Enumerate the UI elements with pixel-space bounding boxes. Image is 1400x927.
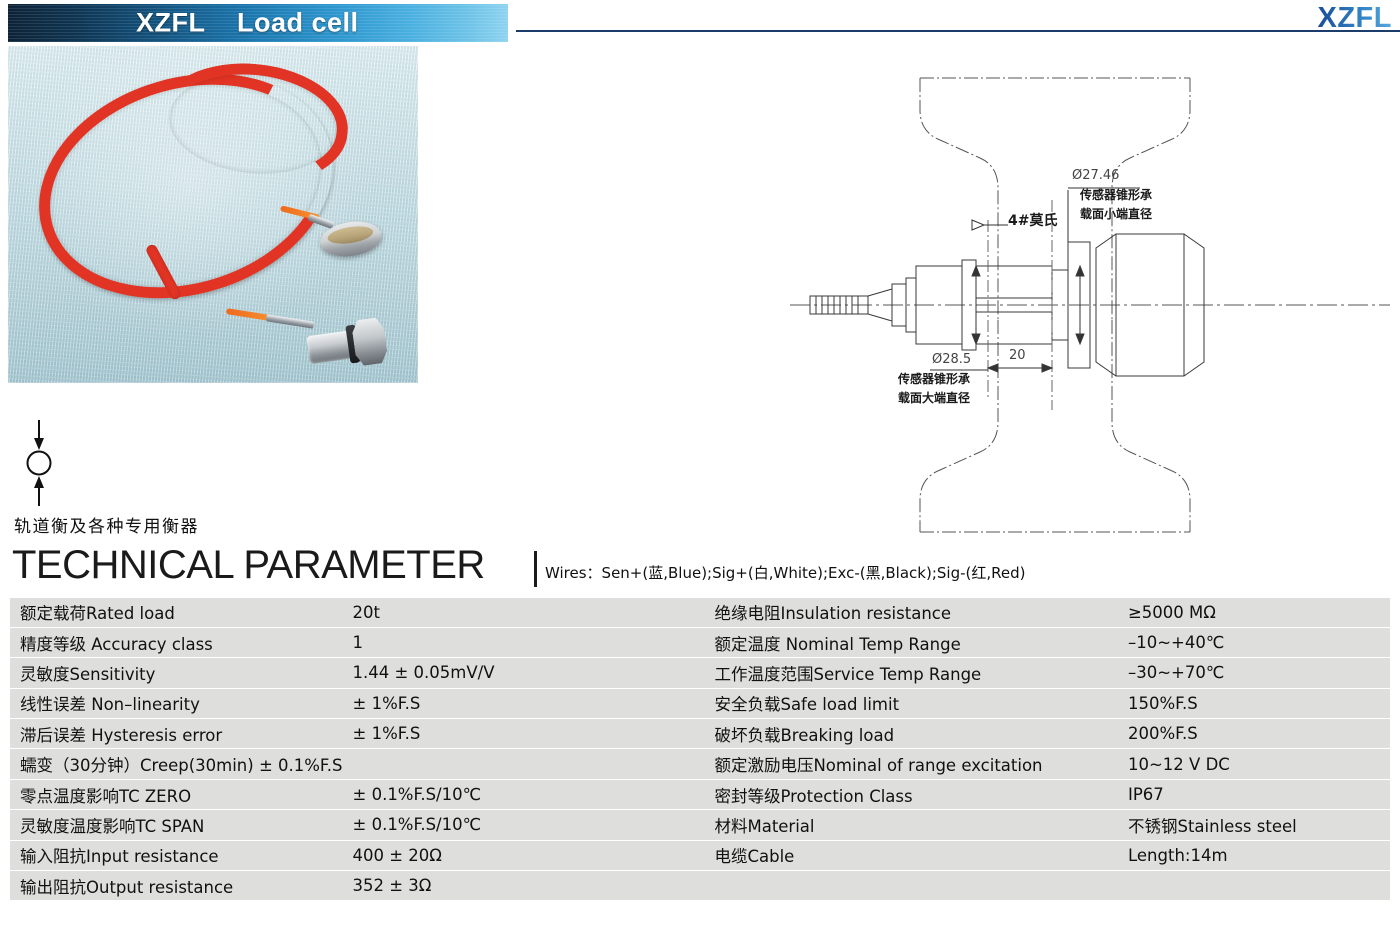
spec-value-right: 不锈钢Stainless steel bbox=[1118, 810, 1390, 840]
application-caption: 轨道衡及各种专用衡器 bbox=[14, 512, 199, 537]
drawing-canvas bbox=[780, 70, 1400, 540]
table-row: 灵敏度Sensitivity1.44 ± 0.05mV/V工作温度范围Servi… bbox=[10, 658, 1390, 688]
spec-label-left: 输出阻抗Output resistance bbox=[10, 871, 343, 901]
spec-label-left: 零点温度影响TC ZERO bbox=[10, 779, 343, 809]
spec-label-left: 线性误差 Non–linearity bbox=[10, 688, 343, 718]
spec-label-left: 灵敏度Sensitivity bbox=[10, 658, 343, 688]
spec-label-left: 灵敏度温度影响TC SPAN bbox=[10, 810, 343, 840]
label-large-end-line1: 传感器锥形承 bbox=[898, 372, 970, 387]
spec-value-right bbox=[1118, 871, 1390, 901]
spec-value-left: ± 1%F.S bbox=[343, 719, 705, 749]
wires-note: Wires：Sen+(蓝,Blue);Sig+(白,White);Exc-(黑,… bbox=[545, 562, 1025, 583]
table-row: 精度等级 Accuracy class1额定温度 Nominal Temp Ra… bbox=[10, 627, 1390, 657]
spec-label-right bbox=[704, 871, 1118, 901]
spec-value-right: –30~+70℃ bbox=[1118, 658, 1390, 688]
compression-load-arrows-icon bbox=[16, 418, 62, 508]
spec-value-left: ± 0.1%F.S/10℃ bbox=[343, 779, 705, 809]
spec-value-left: ± 1%F.S bbox=[343, 688, 705, 718]
specification-table: 额定载荷Rated load20t绝缘电阻Insulation resistan… bbox=[10, 596, 1390, 901]
dim-seat-length: 20 bbox=[1009, 348, 1026, 363]
spec-value-left: 1.44 ± 0.05mV/V bbox=[343, 658, 705, 688]
spec-label-right: 工作温度范围Service Temp Range bbox=[704, 658, 1118, 688]
table-row: 输出阻抗Output resistance352 ± 3Ω bbox=[10, 871, 1390, 901]
spec-value-right: 10~12 V DC bbox=[1118, 749, 1390, 779]
spec-label-right: 材料Material bbox=[704, 810, 1118, 840]
spec-label-left: 精度等级 Accuracy class bbox=[10, 627, 343, 657]
spec-label-left: 额定载荷Rated load bbox=[10, 597, 343, 627]
spec-value-left bbox=[343, 749, 705, 779]
spec-value-left: ± 0.1%F.S/10℃ bbox=[343, 810, 705, 840]
spec-value-left: 20t bbox=[343, 597, 705, 627]
spec-value-left: 352 ± 3Ω bbox=[343, 871, 705, 901]
spec-label-right: 额定温度 Nominal Temp Range bbox=[704, 627, 1118, 657]
spec-label-left: 蠕变（30分钟）Creep(30min) ± 0.1%F.S bbox=[10, 749, 343, 779]
spec-label-right: 安全负载Safe load limit bbox=[704, 688, 1118, 718]
spec-value-right: 150%F.S bbox=[1118, 688, 1390, 718]
table-row: 线性误差 Non–linearity± 1%F.S安全负载Safe load l… bbox=[10, 688, 1390, 718]
spec-label-right: 破坏负载Breaking load bbox=[704, 719, 1118, 749]
label-small-end-line1: 传感器锥形承 bbox=[1080, 188, 1152, 203]
label-morse-taper: 4#莫氏 bbox=[1008, 213, 1057, 231]
installation-drawing: Ø27.46 传感器锥形承 载面小端直径 Ø28.5 传感器锥形承 载面大端直径… bbox=[780, 70, 1400, 540]
spec-label-left: 滞后误差 Hysteresis error bbox=[10, 719, 343, 749]
table-row: 灵敏度温度影响TC SPAN± 0.1%F.S/10℃材料Material不锈钢… bbox=[10, 810, 1390, 840]
spec-value-right: –10~+40℃ bbox=[1118, 627, 1390, 657]
spec-label-right: 额定激励电压Nominal of range excitation bbox=[704, 749, 1118, 779]
spec-label-left: 输入阻抗Input resistance bbox=[10, 840, 343, 870]
table-row: 零点温度影响TC ZERO± 0.1%F.S/10℃密封等级Protection… bbox=[10, 779, 1390, 809]
spec-label-right: 密封等级Protection Class bbox=[704, 779, 1118, 809]
label-large-end-line2: 载面大端直径 bbox=[898, 391, 970, 406]
table-row: 蠕变（30分钟）Creep(30min) ± 0.1%F.S额定激励电压Nomi… bbox=[10, 749, 1390, 779]
table-row: 输入阻抗Input resistance400 ± 20Ω电缆CableLeng… bbox=[10, 840, 1390, 870]
header-divider-rule bbox=[516, 30, 1400, 32]
table-row: 滞后误差 Hysteresis error± 1%F.S破坏负载Breaking… bbox=[10, 719, 1390, 749]
technical-parameter-title: TECHNICAL PARAMETER bbox=[12, 543, 485, 588]
spec-value-left: 1 bbox=[343, 627, 705, 657]
specification-table-body: 额定载荷Rated load20t绝缘电阻Insulation resistan… bbox=[10, 597, 1390, 901]
product-banner: XZFL Load cell bbox=[8, 4, 508, 42]
table-row: 额定载荷Rated load20t绝缘电阻Insulation resistan… bbox=[10, 597, 1390, 627]
spec-value-right: ≥5000 MΩ bbox=[1118, 597, 1390, 627]
spec-value-right: 200%F.S bbox=[1118, 719, 1390, 749]
spec-value-right: IP67 bbox=[1118, 779, 1390, 809]
dim-small-end-diameter: Ø27.46 bbox=[1072, 168, 1119, 183]
spec-value-right: Length:14m bbox=[1118, 840, 1390, 870]
product-photo bbox=[8, 46, 418, 383]
banner-title: XZFL Load cell bbox=[136, 8, 359, 39]
spec-label-right: 绝缘电阻Insulation resistance bbox=[704, 597, 1118, 627]
dim-large-end-diameter: Ø28.5 bbox=[932, 352, 971, 367]
page-header: XZFL Load cell XZFL bbox=[0, 0, 1400, 44]
title-separator-bar bbox=[534, 551, 537, 587]
spec-label-right: 电缆Cable bbox=[704, 840, 1118, 870]
model-code-label: XZFL bbox=[1318, 2, 1393, 35]
spec-value-left: 400 ± 20Ω bbox=[343, 840, 705, 870]
label-small-end-line2: 载面小端直径 bbox=[1080, 207, 1152, 222]
